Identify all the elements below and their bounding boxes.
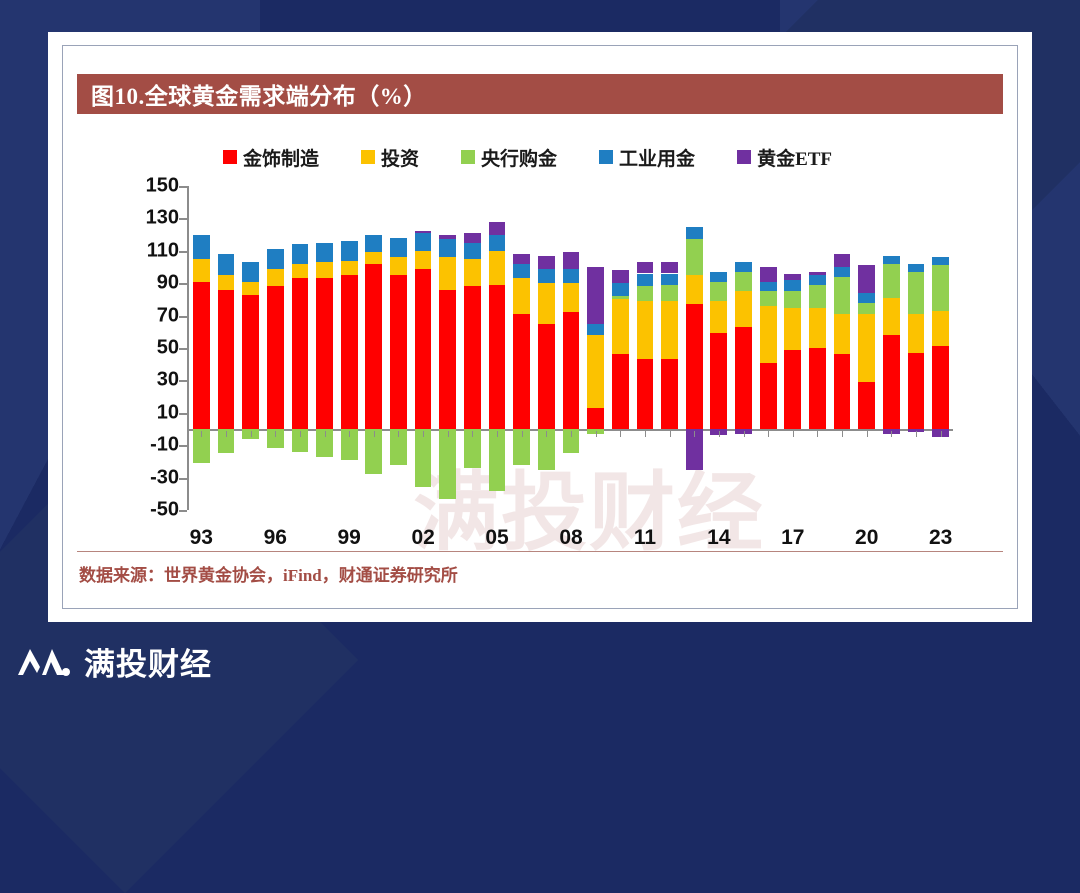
bar-segment xyxy=(439,239,456,257)
figure-card-border: 图10.全球黄金需求端分布（%） 金饰制造投资央行购金工业用金黄金ETF 满投财… xyxy=(62,45,1018,609)
bar-segment xyxy=(341,261,358,276)
x-axis-tick xyxy=(251,431,252,437)
bar-column-05 xyxy=(489,186,506,510)
y-tick-label: -10 xyxy=(150,434,179,457)
legend-item-0: 金饰制造 xyxy=(223,144,319,171)
bar-segment xyxy=(834,314,851,355)
x-tick-label: 20 xyxy=(855,526,878,550)
y-tick-label: 130 xyxy=(146,207,179,230)
legend-label: 投资 xyxy=(381,144,419,171)
y-tick-label: 30 xyxy=(157,369,179,392)
bar-segment xyxy=(784,280,801,291)
bar-segment xyxy=(538,324,555,429)
bar-segment xyxy=(341,241,358,260)
x-axis-tick xyxy=(423,431,424,437)
legend-swatch-icon xyxy=(361,150,375,164)
bar-segment xyxy=(858,382,875,429)
bar-column-98 xyxy=(316,186,333,510)
bar-segment xyxy=(858,293,875,303)
x-tick-label: 23 xyxy=(929,526,952,550)
bar-segment xyxy=(784,308,801,350)
x-axis-tick xyxy=(744,431,745,437)
bar-column-07 xyxy=(538,186,555,510)
y-axis-tick xyxy=(179,316,187,318)
bar-segment xyxy=(760,282,777,292)
bar-segment xyxy=(390,257,407,275)
x-axis-tick xyxy=(867,431,868,437)
bar-segment xyxy=(760,267,777,282)
bar-segment xyxy=(686,304,703,429)
bar-column-06 xyxy=(513,186,530,510)
x-tick-label: 17 xyxy=(781,526,804,550)
bar-segment xyxy=(834,277,851,314)
bar-segment xyxy=(612,283,629,296)
legend-label: 工业用金 xyxy=(619,144,695,171)
bar-column-18 xyxy=(809,186,826,510)
bar-column-03 xyxy=(439,186,456,510)
x-axis-tick xyxy=(916,431,917,437)
source-note: 数据来源：世界黄金协会，iFind，财通证券研究所 xyxy=(79,561,458,586)
bar-segment xyxy=(316,278,333,429)
bar-column-19 xyxy=(834,186,851,510)
x-tick-label: 05 xyxy=(485,526,508,550)
bar-segment xyxy=(415,231,432,233)
bar-column-14 xyxy=(710,186,727,510)
bar-column-22 xyxy=(908,186,925,510)
bar-segment xyxy=(858,303,875,314)
x-axis-tick xyxy=(522,431,523,437)
x-axis-tick xyxy=(374,431,375,437)
bar-segment xyxy=(316,243,333,262)
bar-segment xyxy=(563,252,580,268)
y-axis-tick xyxy=(179,510,187,512)
bar-segment xyxy=(563,312,580,429)
bar-segment xyxy=(686,239,703,275)
bar-segment xyxy=(809,348,826,429)
brand-footer: 满投财经 xyxy=(16,633,212,689)
bar-segment xyxy=(439,429,456,499)
bar-segment xyxy=(365,235,382,253)
legend-label: 黄金ETF xyxy=(757,144,832,171)
bar-segment xyxy=(415,251,432,269)
bar-column-08 xyxy=(563,186,580,510)
legend-swatch-icon xyxy=(599,150,613,164)
bar-segment xyxy=(563,269,580,284)
bar-segment xyxy=(932,311,949,347)
bar-segment xyxy=(908,314,925,353)
bar-segment xyxy=(390,275,407,429)
bar-segment xyxy=(932,265,949,310)
y-axis-tick xyxy=(179,218,187,220)
bar-segment xyxy=(513,278,530,314)
bar-segment xyxy=(415,269,432,429)
legend-item-3: 工业用金 xyxy=(599,144,695,171)
bar-segment xyxy=(292,244,309,263)
bar-segment xyxy=(267,249,284,268)
bar-segment xyxy=(760,291,777,306)
x-tick-label: 11 xyxy=(634,526,656,550)
bar-column-23 xyxy=(932,186,949,510)
bar-segment xyxy=(760,306,777,363)
bar-segment xyxy=(612,296,629,299)
bar-segment xyxy=(883,335,900,429)
bar-segment xyxy=(710,282,727,301)
x-axis-tick xyxy=(941,431,942,437)
bar-segment xyxy=(809,285,826,308)
x-axis-tick xyxy=(201,431,202,437)
x-axis-tick xyxy=(793,431,794,437)
x-axis-tick xyxy=(325,431,326,437)
bar-segment xyxy=(637,274,654,287)
bar-segment xyxy=(908,353,925,429)
y-tick-label: -30 xyxy=(150,466,179,489)
bar-segment xyxy=(513,254,530,264)
bar-segment xyxy=(489,251,506,285)
bar-segment xyxy=(316,262,333,278)
bar-segment xyxy=(587,335,604,408)
bar-column-20 xyxy=(858,186,875,510)
bar-column-95 xyxy=(242,186,259,510)
x-axis-tick xyxy=(398,431,399,437)
legend-label: 央行购金 xyxy=(481,144,557,171)
x-axis-tick xyxy=(842,431,843,437)
bar-segment xyxy=(538,283,555,324)
bar-segment xyxy=(242,295,259,429)
x-axis-tick xyxy=(719,431,720,437)
bar-series-container xyxy=(189,186,953,510)
bar-column-13 xyxy=(686,186,703,510)
bar-column-93 xyxy=(193,186,210,510)
bar-segment xyxy=(242,282,259,295)
x-axis-tick xyxy=(546,431,547,437)
x-tick-label: 14 xyxy=(707,526,730,550)
y-axis-tick xyxy=(179,413,187,415)
bar-segment xyxy=(587,408,604,429)
mountain-m-logo-icon xyxy=(16,641,70,681)
bar-segment xyxy=(218,254,235,275)
bar-column-15 xyxy=(735,186,752,510)
bar-segment xyxy=(513,314,530,429)
chart-legend: 金饰制造投资央行购金工业用金黄金ETF xyxy=(223,142,1013,172)
bar-segment xyxy=(193,282,210,429)
bar-column-11 xyxy=(637,186,654,510)
bar-segment xyxy=(883,264,900,298)
bar-segment xyxy=(710,272,727,282)
bar-segment xyxy=(538,256,555,269)
legend-item-2: 央行购金 xyxy=(461,144,557,171)
legend-swatch-icon xyxy=(737,150,751,164)
y-tick-label: 90 xyxy=(157,272,179,295)
bar-segment xyxy=(489,222,506,235)
x-axis-tick xyxy=(275,431,276,437)
figure-card: 图10.全球黄金需求端分布（%） 金饰制造投资央行购金工业用金黄金ETF 满投财… xyxy=(48,32,1032,622)
bar-segment xyxy=(292,278,309,429)
legend-swatch-icon xyxy=(461,150,475,164)
bar-segment xyxy=(612,354,629,429)
x-axis-tick xyxy=(645,431,646,437)
bar-segment xyxy=(661,285,678,301)
bar-segment xyxy=(439,235,456,240)
bar-segment xyxy=(365,264,382,429)
x-tick-label: 99 xyxy=(338,526,361,550)
bar-column-99 xyxy=(341,186,358,510)
bar-segment xyxy=(760,363,777,429)
bar-segment xyxy=(193,235,210,259)
bar-segment xyxy=(784,274,801,280)
x-tick-label: 02 xyxy=(411,526,434,550)
legend-swatch-icon xyxy=(223,150,237,164)
figure-title-bar: 图10.全球黄金需求端分布（%） xyxy=(77,74,1003,114)
bar-segment xyxy=(267,269,284,287)
y-axis-tick xyxy=(179,445,187,447)
x-axis-tick xyxy=(817,431,818,437)
bar-segment xyxy=(587,267,604,324)
bar-column-16 xyxy=(760,186,777,510)
bar-column-01 xyxy=(390,186,407,510)
bar-segment xyxy=(686,227,703,240)
bar-column-10 xyxy=(612,186,629,510)
bar-column-09 xyxy=(587,186,604,510)
bar-segment xyxy=(735,262,752,272)
bar-column-04 xyxy=(464,186,481,510)
y-axis-tick xyxy=(179,348,187,350)
bar-column-97 xyxy=(292,186,309,510)
bar-segment xyxy=(735,272,752,291)
x-axis-tick xyxy=(349,431,350,437)
bar-segment xyxy=(661,301,678,359)
x-axis-tick xyxy=(226,431,227,437)
bar-segment xyxy=(489,285,506,429)
bar-segment xyxy=(415,233,432,251)
legend-item-4: 黄金ETF xyxy=(737,144,832,171)
bar-segment xyxy=(858,265,875,293)
bar-segment xyxy=(661,359,678,429)
bar-column-00 xyxy=(365,186,382,510)
bar-segment xyxy=(932,346,949,429)
bar-column-12 xyxy=(661,186,678,510)
bar-segment xyxy=(341,275,358,429)
bar-segment xyxy=(637,262,654,273)
x-axis-tick xyxy=(620,431,621,437)
x-tick-label: 08 xyxy=(559,526,582,550)
bar-segment xyxy=(809,275,826,285)
bar-segment xyxy=(464,259,481,287)
bar-column-17 xyxy=(784,186,801,510)
bar-segment xyxy=(710,333,727,429)
bar-segment xyxy=(637,301,654,359)
bar-segment xyxy=(809,308,826,349)
bar-column-02 xyxy=(415,186,432,510)
y-axis-tick xyxy=(179,478,187,480)
legend-item-1: 投资 xyxy=(361,144,419,171)
bar-column-21 xyxy=(883,186,900,510)
bar-segment xyxy=(834,254,851,267)
y-tick-label: 10 xyxy=(157,401,179,424)
legend-label: 金饰制造 xyxy=(243,144,319,171)
bar-segment xyxy=(242,262,259,281)
bar-segment xyxy=(858,314,875,382)
bar-segment xyxy=(415,429,432,487)
bar-segment xyxy=(686,275,703,304)
bar-segment xyxy=(661,262,678,273)
chart-plot-area: 满投财经 1501301109070503010-10-30-50 939699… xyxy=(83,174,1003,554)
bar-segment xyxy=(637,286,654,301)
bar-segment xyxy=(267,286,284,429)
y-axis-tick xyxy=(179,380,187,382)
y-tick-label: -50 xyxy=(150,499,179,522)
bar-segment xyxy=(612,299,629,354)
bar-segment xyxy=(439,257,456,289)
x-axis-tick xyxy=(448,431,449,437)
y-axis-tick xyxy=(179,251,187,253)
bar-segment xyxy=(365,252,382,263)
bar-segment xyxy=(563,283,580,312)
bar-segment xyxy=(538,269,555,284)
x-axis-tick xyxy=(497,431,498,437)
bar-segment xyxy=(587,324,604,335)
x-tick-label: 93 xyxy=(190,526,213,550)
bar-column-96 xyxy=(267,186,284,510)
bar-segment xyxy=(513,264,530,279)
bar-segment xyxy=(834,354,851,429)
bar-segment xyxy=(932,257,949,265)
y-axis-tick xyxy=(179,283,187,285)
bar-segment xyxy=(218,290,235,429)
bar-segment xyxy=(834,267,851,277)
bar-segment xyxy=(612,270,629,283)
bar-segment xyxy=(439,290,456,429)
y-tick-label: 50 xyxy=(157,337,179,360)
x-axis-tick xyxy=(300,431,301,437)
bar-segment xyxy=(735,291,752,327)
bar-segment xyxy=(883,298,900,335)
bar-segment xyxy=(809,272,826,275)
y-axis-tick xyxy=(179,186,187,188)
brand-name: 满投财经 xyxy=(84,639,212,684)
bar-segment xyxy=(292,264,309,279)
source-divider xyxy=(77,551,1003,552)
bar-segment xyxy=(883,256,900,264)
x-axis-tick xyxy=(472,431,473,437)
y-axis-labels: 1501301109070503010-10-30-50 xyxy=(83,174,183,504)
bar-segment xyxy=(390,238,407,257)
bar-segment xyxy=(710,301,727,333)
bar-segment xyxy=(464,286,481,429)
bar-segment xyxy=(735,327,752,429)
bar-segment xyxy=(464,233,481,243)
bar-segment xyxy=(637,359,654,429)
x-tick-label: 96 xyxy=(264,526,287,550)
y-tick-label: 110 xyxy=(147,239,179,262)
x-axis-tick xyxy=(596,431,597,437)
bar-column-94 xyxy=(218,186,235,510)
bar-segment xyxy=(661,274,678,285)
bar-segment xyxy=(489,235,506,251)
bar-segment xyxy=(464,243,481,259)
bar-segment xyxy=(784,350,801,429)
bar-segment xyxy=(784,291,801,307)
bar-segment xyxy=(218,275,235,290)
bar-segment xyxy=(193,259,210,282)
x-axis-tick xyxy=(571,431,572,437)
y-tick-label: 150 xyxy=(146,175,179,198)
x-axis-tick xyxy=(891,431,892,437)
bar-segment xyxy=(908,264,925,272)
x-axis-tick xyxy=(670,431,671,437)
page-title: 图10.全球黄金需求端分布（%） xyxy=(77,77,427,111)
x-axis-tick xyxy=(694,431,695,437)
y-tick-label: 70 xyxy=(157,304,179,327)
bar-segment xyxy=(489,429,506,491)
bar-segment xyxy=(908,272,925,314)
x-axis-tick xyxy=(768,431,769,437)
